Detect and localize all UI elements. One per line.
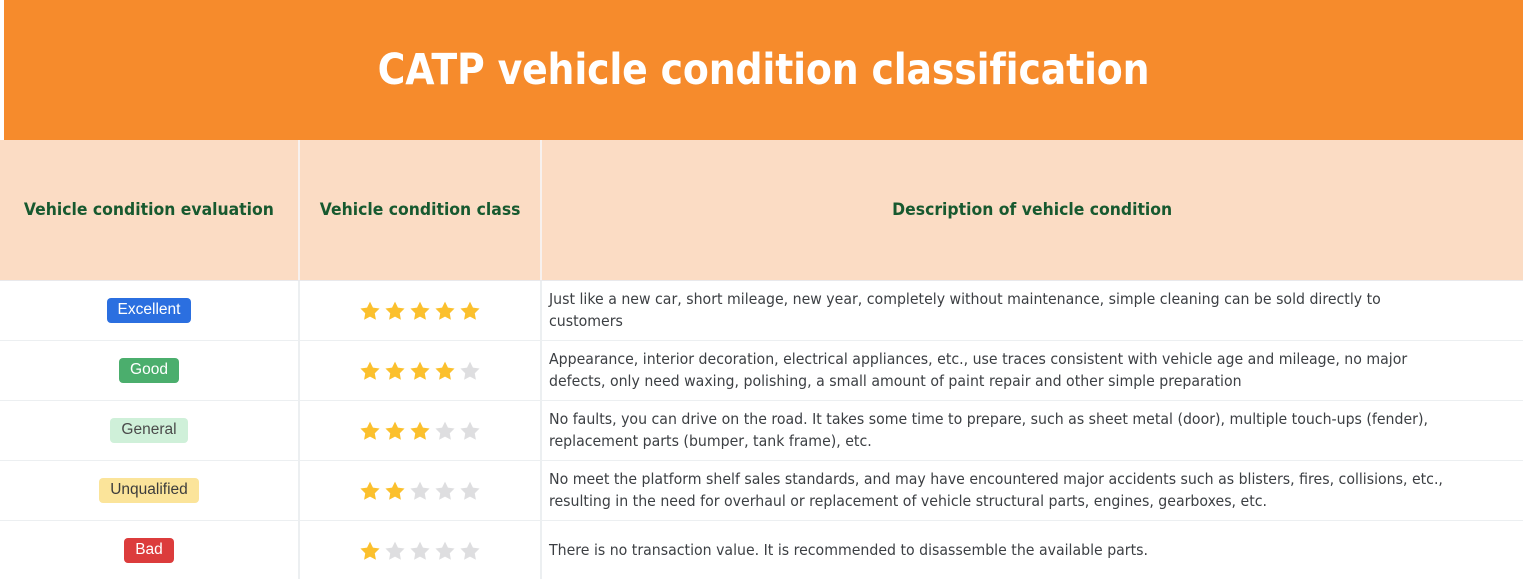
cell-condition-class <box>300 461 542 520</box>
cell-description: No meet the platform shelf sales standar… <box>542 461 1527 520</box>
condition-table: Vehicle condition evaluation Vehicle con… <box>0 140 1527 579</box>
header-cell-class: Vehicle condition class <box>300 140 542 280</box>
cell-description: Appearance, interior decoration, electri… <box>542 341 1527 400</box>
cell-evaluation: Excellent <box>0 281 300 340</box>
description-text: Appearance, interior decoration, electri… <box>549 349 1447 392</box>
star-icon <box>458 419 482 443</box>
cell-evaluation: General <box>0 401 300 460</box>
status-badge: Excellent <box>107 298 192 323</box>
star-icon <box>433 419 457 443</box>
table-row: UnqualifiedNo meet the platform shelf sa… <box>0 461 1527 521</box>
cell-description: Just like a new car, short mileage, new … <box>542 281 1527 340</box>
status-badge: General <box>110 418 187 443</box>
star-icon <box>383 479 407 503</box>
title-banner: CATP vehicle condition classification <box>4 0 1523 140</box>
cell-description: There is no transaction value. It is rec… <box>542 521 1527 579</box>
description-text: Just like a new car, short mileage, new … <box>549 289 1447 332</box>
cell-evaluation: Good <box>0 341 300 400</box>
cell-condition-class <box>300 341 542 400</box>
header-label-description: Description of vehicle condition <box>892 200 1172 220</box>
header-cell-evaluation: Vehicle condition evaluation <box>0 140 300 280</box>
star-rating <box>358 479 482 503</box>
star-icon <box>383 539 407 563</box>
cell-description: No faults, you can drive on the road. It… <box>542 401 1527 460</box>
star-icon <box>458 539 482 563</box>
table-row: GeneralNo faults, you can drive on the r… <box>0 401 1527 461</box>
cell-condition-class <box>300 521 542 579</box>
cell-evaluation: Unqualified <box>0 461 300 520</box>
star-rating <box>358 359 482 383</box>
star-icon <box>358 419 382 443</box>
cell-condition-class <box>300 281 542 340</box>
star-icon <box>433 359 457 383</box>
cell-evaluation: Bad <box>0 521 300 579</box>
star-icon <box>358 359 382 383</box>
table-header-row: Vehicle condition evaluation Vehicle con… <box>0 140 1527 281</box>
table-body: ExcellentJust like a new car, short mile… <box>0 281 1527 579</box>
table-row: ExcellentJust like a new car, short mile… <box>0 281 1527 341</box>
header-label-evaluation: Vehicle condition evaluation <box>24 200 274 220</box>
star-icon <box>458 359 482 383</box>
star-icon <box>358 299 382 323</box>
star-rating <box>358 419 482 443</box>
star-rating <box>358 299 482 323</box>
star-icon <box>383 419 407 443</box>
star-icon <box>408 359 432 383</box>
header-cell-description: Description of vehicle condition <box>542 140 1527 280</box>
page-title: CATP vehicle condition classification <box>378 49 1150 92</box>
vehicle-condition-classification-page: CATP vehicle condition classification Ve… <box>0 0 1527 579</box>
star-icon <box>383 359 407 383</box>
star-icon <box>408 539 432 563</box>
star-icon <box>408 419 432 443</box>
star-rating <box>358 539 482 563</box>
description-text: There is no transaction value. It is rec… <box>549 540 1447 562</box>
header-label-class: Vehicle condition class <box>320 200 521 220</box>
table-row: BadThere is no transaction value. It is … <box>0 521 1527 579</box>
status-badge: Bad <box>124 538 174 563</box>
star-icon <box>458 299 482 323</box>
star-icon <box>358 539 382 563</box>
star-icon <box>433 539 457 563</box>
star-icon <box>433 479 457 503</box>
status-badge: Unqualified <box>99 478 199 503</box>
description-text: No meet the platform shelf sales standar… <box>549 469 1447 512</box>
table-row: GoodAppearance, interior decoration, ele… <box>0 341 1527 401</box>
cell-condition-class <box>300 401 542 460</box>
description-text: No faults, you can drive on the road. It… <box>549 409 1447 452</box>
far-right-edge-trim <box>1523 0 1527 579</box>
star-icon <box>358 479 382 503</box>
status-badge: Good <box>119 358 179 383</box>
star-icon <box>383 299 407 323</box>
star-icon <box>408 479 432 503</box>
star-icon <box>458 479 482 503</box>
star-icon <box>408 299 432 323</box>
star-icon <box>433 299 457 323</box>
